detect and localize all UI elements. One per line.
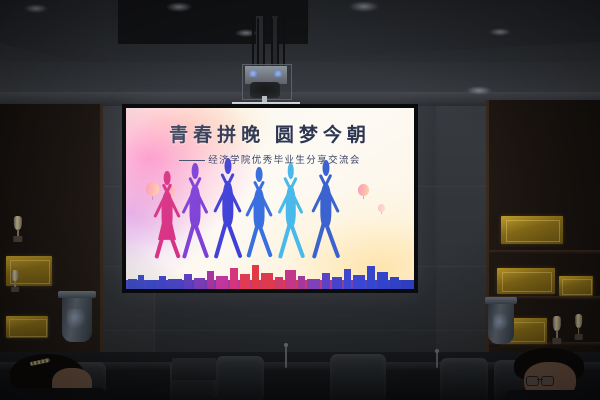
decorative-vase xyxy=(62,294,92,342)
laptop-on-table xyxy=(172,358,216,380)
microphone-head-icon xyxy=(435,349,439,353)
chair-3 xyxy=(330,354,386,400)
decorative-vase xyxy=(488,300,514,344)
person-left-foreground xyxy=(4,352,108,400)
glasses-icon xyxy=(526,376,554,384)
conference-room-photo: 青春拼晚 圆梦今朝 经济学院优秀毕业生分享交流会 xyxy=(0,0,600,400)
microphone-icon xyxy=(285,346,287,368)
chair-4 xyxy=(440,358,488,400)
person-right-foreground xyxy=(504,348,600,400)
microphone-head-icon xyxy=(284,343,288,347)
microphone-icon xyxy=(436,352,438,368)
chair-2 xyxy=(216,356,264,400)
